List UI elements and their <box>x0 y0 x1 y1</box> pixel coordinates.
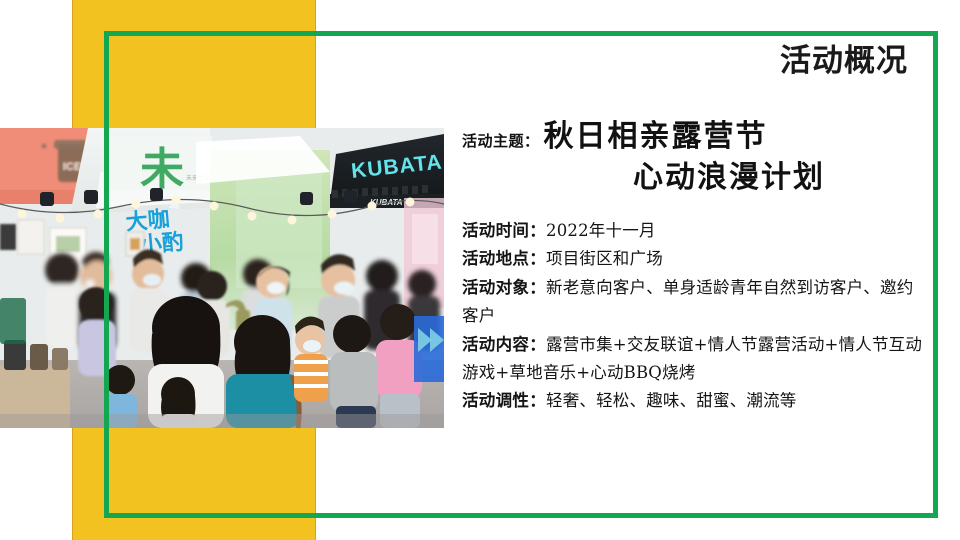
detail-item-location: 活动地点：项目街区和广场 <box>462 245 924 273</box>
detail-item-time: 活动时间：2022年十一月 <box>462 217 924 245</box>
event-theme-label: 活动主题： <box>462 130 540 151</box>
detail-label-location: 活动地点： <box>462 249 546 268</box>
page-title: 活动概况 <box>458 44 924 78</box>
detail-item-tonality: 活动调性：轻奢、轻松、趣味、甜蜜、潮流等 <box>462 387 924 415</box>
detail-value-time: 2022年十一月 <box>546 221 656 240</box>
event-theme-line1: 秋日相亲露营节 <box>544 120 768 155</box>
detail-label-audience: 活动对象： <box>462 278 546 297</box>
detail-label-tonality: 活动调性： <box>462 391 546 410</box>
event-theme-line2: 心动浪漫计划 <box>458 161 924 196</box>
detail-item-audience: 活动对象：新老意向客户、单身适龄青年自然到访客户、邀约客户 <box>462 274 924 331</box>
detail-value-location: 项目街区和广场 <box>546 249 663 268</box>
event-theme-row: 活动主题： 秋日相亲露营节 <box>458 120 924 155</box>
detail-value-tonality: 轻奢、轻松、趣味、甜蜜、潮流等 <box>546 391 797 410</box>
detail-item-program: 活动内容：露营市集+交友联谊+情人节露营活动+情人节互动游戏+草地音乐+心动BB… <box>462 331 924 388</box>
detail-label-time: 活动时间： <box>462 221 546 240</box>
detail-label-program: 活动内容： <box>462 335 546 354</box>
slide-canvas: ICE 未 未来生活 KUBATA <box>0 0 960 540</box>
event-detail-list: 活动时间：2022年十一月 活动地点：项目街区和广场 活动对象：新老意向客户、单… <box>458 217 924 416</box>
content-column: 活动概况 活动主题： 秋日相亲露营节 心动浪漫计划 活动时间：2022年十一月 … <box>458 44 924 504</box>
svg-text:ICE: ICE <box>63 161 81 173</box>
